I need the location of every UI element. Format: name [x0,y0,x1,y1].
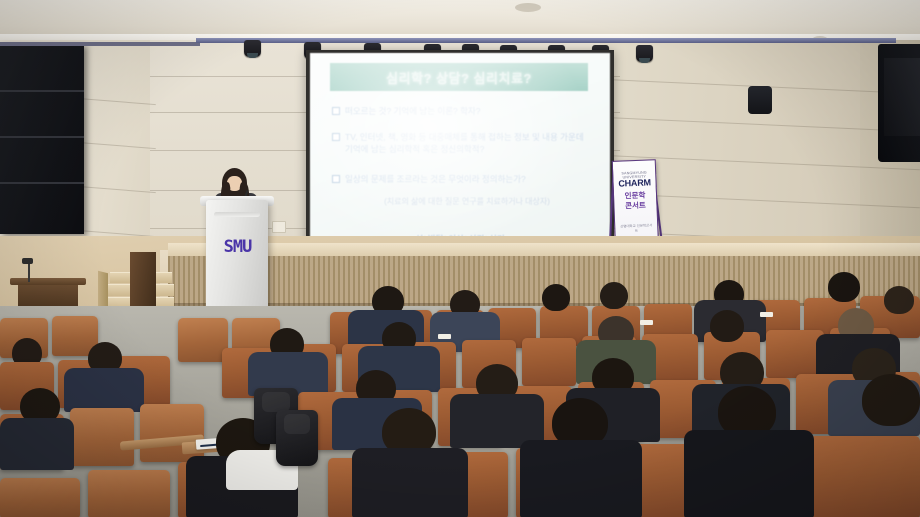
seat[interactable] [810,436,920,517]
audience-head [884,286,914,314]
seat[interactable] [70,408,134,466]
podium-groove [214,212,260,217]
wooden-cabinet [130,252,156,314]
slide-bullet: 일상의 문제를 조르라는 것은 무엇이라 정의하는가? [332,173,584,185]
bullet-square-icon [332,107,340,115]
slide-bullet-text: 일상의 문제를 조르라는 것은 무엇이라 정의하는가? [345,173,526,185]
slide-bullet-text: 떠오르는 것? 기억에 남는 이론? 학자? [345,105,480,117]
stage-platform-top [168,243,920,256]
lighting-truss [196,38,896,43]
ceiling-vent-icon [515,3,541,12]
slide-bullet: TV, 인터넷, 책, 영화 등 대중매체를 통해 접하는 정보 및 내용 가운… [332,131,584,156]
audience-torso [520,440,642,517]
side-table-top [10,278,86,285]
spotlight-icon [244,40,261,57]
slide-bullet: 떠오르는 것? 기억에 남는 이론? 학자? [332,105,582,117]
slide-subnote: (치료의 삶에 대한 질문 연구를 치료하거나 대상자) [362,196,572,207]
audience-torso [352,448,468,517]
line-array-speaker-right-lower [884,58,920,136]
seat[interactable] [178,318,228,362]
audience-torso [0,418,74,470]
desk-lamp-icon [22,258,33,264]
seat-number-tag [438,334,451,339]
auditorium-photo: 심리학? 상담? 심리치료? 떠오르는 것? 기억에 남는 이론? 학자? TV… [0,0,920,517]
line-array-speaker-left [0,44,84,234]
ceiling-speaker-icon [748,86,772,114]
desk-lamp-arm [28,262,30,282]
audience-head [828,272,860,302]
audience-head [542,284,570,311]
projection-screen: 심리학? 상담? 심리치료? 떠오르는 것? 기억에 남는 이론? 학자? TV… [310,53,610,263]
seat[interactable] [522,338,576,386]
bullet-square-icon [332,175,340,183]
seat-number-tag [640,320,653,325]
audience-torso [684,430,814,517]
audience-head [710,310,744,342]
audience-head [862,374,920,426]
slide-title: 심리학? 상담? 심리치료? [330,63,588,91]
lighting-truss-left [0,42,200,46]
banner-mid-text: 상명대학교 인문학콘서트 [619,223,653,235]
bullet-square-icon [332,133,340,141]
banner-line-2: 콘서트 [614,199,656,212]
seat[interactable] [88,470,170,517]
wall-socket-icon [272,221,286,233]
audience-head [600,282,628,309]
spotlight-icon [636,45,653,62]
slide-bullet-text: TV, 인터넷, 책, 영화 등 대중매체를 통해 접하는 정보 및 내용 가운… [345,131,584,156]
banner-brand: CHARM [613,177,655,189]
seat[interactable] [0,478,80,517]
seat-number-tag [760,312,773,317]
backpack [276,410,318,466]
podium-logo: SMU [215,237,260,257]
audience-torso [64,368,144,412]
slide-title-band: 심리학? 상담? 심리치료? [330,63,588,91]
